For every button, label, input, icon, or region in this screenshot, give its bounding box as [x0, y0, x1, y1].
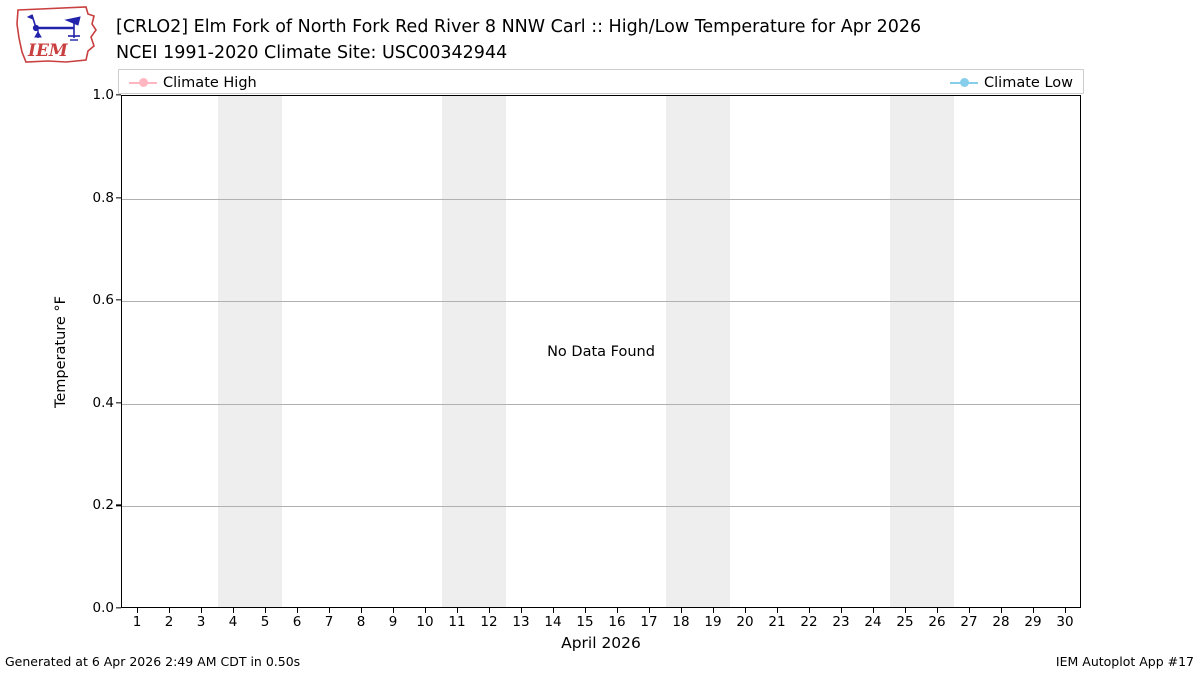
x-axis-tick-mark	[233, 608, 234, 613]
x-axis-tick-mark	[649, 608, 650, 613]
x-axis-tick-mark	[1001, 608, 1002, 613]
x-axis-tick-mark	[1033, 608, 1034, 613]
chart-plot-area[interactable]: No Data Found	[121, 95, 1081, 608]
y-axis-tick-label: 0.6	[0, 292, 114, 308]
no-data-message: No Data Found	[122, 344, 1080, 360]
x-axis-tick-mark	[809, 608, 810, 613]
gridline-horizontal	[122, 404, 1080, 405]
y-axis-tick-label: 0.4	[0, 395, 114, 411]
legend-item-climate-low[interactable]: Climate Low	[950, 70, 1073, 95]
x-axis-tick-mark	[297, 608, 298, 613]
page-title: [CRLO2] Elm Fork of North Fork Red River…	[116, 14, 1096, 66]
gridline-horizontal	[122, 506, 1080, 507]
x-axis-tick-mark	[489, 608, 490, 613]
x-axis-tick-mark	[745, 608, 746, 613]
x-axis-tick-mark	[329, 608, 330, 613]
iem-logo[interactable]: IEM	[8, 4, 104, 66]
y-axis-tick-mark	[116, 300, 121, 301]
iem-logo-icon: IEM	[8, 4, 104, 66]
x-axis-tick-mark	[969, 608, 970, 613]
x-axis-tick-mark	[937, 608, 938, 613]
gridline-horizontal	[122, 301, 1080, 302]
y-axis-label: Temperature °F	[53, 296, 69, 408]
footer-app-text: IEM Autoplot App #17	[1056, 654, 1194, 669]
x-axis-tick-mark	[393, 608, 394, 613]
y-axis-tick-label: 0.0	[0, 600, 114, 616]
legend-marker-climate-low	[950, 77, 978, 89]
y-axis-tick-mark	[116, 197, 121, 198]
y-axis-tick-label: 1.0	[0, 87, 114, 103]
x-axis-tick-mark	[425, 608, 426, 613]
legend-marker-climate-high	[129, 77, 157, 89]
x-axis-tick-mark	[585, 608, 586, 613]
x-axis-tick-mark	[1065, 608, 1066, 613]
x-axis-tick-mark	[681, 608, 682, 613]
x-axis-tick-label: 30	[1045, 614, 1085, 630]
x-axis-tick-mark	[841, 608, 842, 613]
y-axis-tick-label: 0.8	[0, 190, 114, 206]
x-axis-tick-mark	[361, 608, 362, 613]
x-axis-tick-mark	[137, 608, 138, 613]
x-axis-tick-mark	[713, 608, 714, 613]
legend-item-climate-high[interactable]: Climate High	[129, 70, 257, 95]
chart-legend[interactable]: Climate High Climate Low	[118, 69, 1084, 94]
x-axis-tick-mark	[457, 608, 458, 613]
chart-title-line-2: NCEI 1991-2020 Climate Site: USC00342944	[116, 40, 1096, 66]
x-axis-tick-mark	[553, 608, 554, 613]
legend-label-climate-low: Climate Low	[984, 75, 1073, 91]
gridline-horizontal	[122, 199, 1080, 200]
chart-title-line-1: [CRLO2] Elm Fork of North Fork Red River…	[116, 14, 1096, 40]
footer-generated-text: Generated at 6 Apr 2026 2:49 AM CDT in 0…	[5, 654, 300, 669]
y-axis-tick-mark	[116, 94, 121, 95]
y-axis-tick-label: 0.2	[0, 497, 114, 513]
x-axis-tick-mark	[169, 608, 170, 613]
x-axis-tick-mark	[777, 608, 778, 613]
x-axis-label: April 2026	[561, 634, 641, 652]
x-axis-tick-mark	[873, 608, 874, 613]
y-axis-tick-mark	[116, 402, 121, 403]
x-axis-tick-mark	[201, 608, 202, 613]
x-axis-tick-mark	[905, 608, 906, 613]
x-axis-tick-mark	[521, 608, 522, 613]
legend-label-climate-high: Climate High	[163, 75, 257, 91]
x-axis-tick-mark	[617, 608, 618, 613]
y-axis-tick-mark	[116, 505, 121, 506]
x-axis-tick-mark	[265, 608, 266, 613]
y-axis-tick-mark	[116, 607, 121, 608]
iem-logo-text: IEM	[27, 41, 69, 61]
